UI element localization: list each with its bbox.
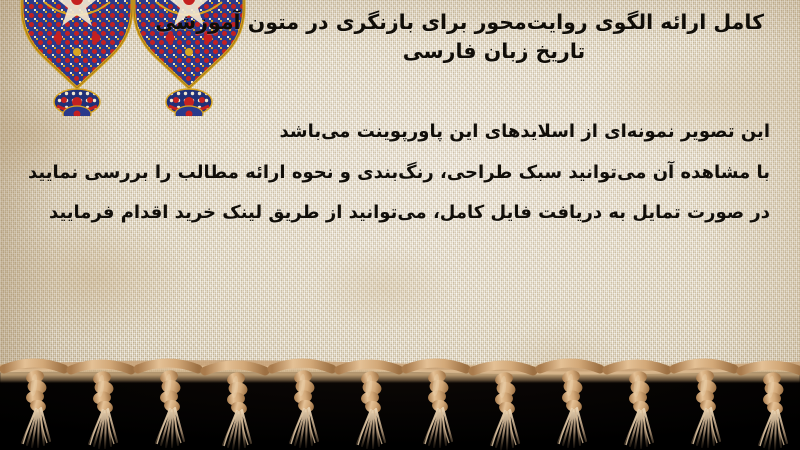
carpet-fringe-region <box>0 355 800 450</box>
persian-medallion-pendant-left-icon <box>18 0 136 116</box>
body-line-3: در صورت تمایل به دریافت فایل کامل، می‌تو… <box>22 193 770 234</box>
slide-title-line-1: کامل ارائه الگوی روایت‌محور برای بازنگری… <box>224 8 764 37</box>
slide-body-text: این تصویر نمونه‌ای از اسلایدهای این پاور… <box>22 112 770 234</box>
slide-title-line-2: تاریخ زبان فارسی <box>224 37 764 66</box>
body-line-1: این تصویر نمونه‌ای از اسلایدهای این پاور… <box>22 112 770 153</box>
slide-title: کامل ارائه الگوی روایت‌محور برای بازنگری… <box>224 8 764 66</box>
carpet-fringe-tassels-icon <box>0 355 800 450</box>
presentation-slide: کامل ارائه الگوی روایت‌محور برای بازنگری… <box>0 0 800 450</box>
body-line-2: با مشاهده آن می‌توانید سبک طراحی، رنگ‌بن… <box>22 153 770 194</box>
